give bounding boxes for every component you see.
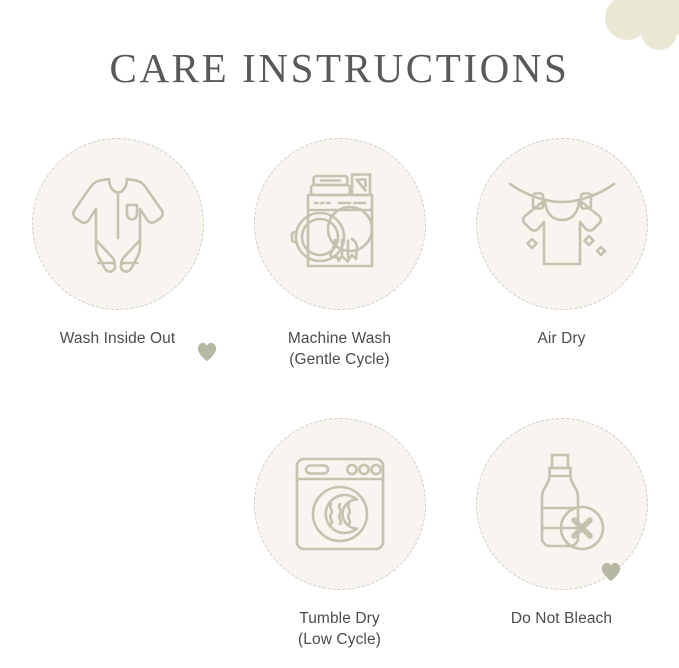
instruction-item-air-dry[interactable]: Air Dry <box>451 138 673 370</box>
instruction-label: Wash Inside Out <box>60 328 176 349</box>
tumble-dryer-icon <box>278 442 402 566</box>
icon-disc <box>254 138 426 310</box>
no-bleach-bottle-icon <box>500 442 624 566</box>
instruction-label: Tumble Dry (Low Cycle) <box>298 608 381 650</box>
instruction-item-tumble-dry[interactable]: Tumble Dry (Low Cycle) <box>229 418 451 650</box>
icon-disc <box>254 418 426 590</box>
instruction-item-machine-wash[interactable]: Machine Wash (Gentle Cycle) <box>229 138 451 370</box>
instruction-item-wash-inside-out[interactable]: Wash Inside Out <box>7 138 229 370</box>
care-instructions-card: CARE INSTRUCTIONS <box>0 0 679 668</box>
instruction-row-top: Wash Inside Out <box>0 138 679 370</box>
instruction-row-bottom: Tumble Dry (Low Cycle) <box>0 418 679 650</box>
instruction-label: Machine Wash (Gentle Cycle) <box>288 328 391 370</box>
instruction-label: Do Not Bleach <box>511 608 612 629</box>
washing-machine-icon <box>278 162 402 286</box>
icon-disc <box>476 138 648 310</box>
page-title: CARE INSTRUCTIONS <box>0 44 679 92</box>
clothesline-tshirt-icon <box>500 162 624 286</box>
icon-disc <box>476 418 648 590</box>
instruction-item-do-not-bleach[interactable]: Do Not Bleach <box>451 418 673 650</box>
icon-disc <box>32 138 204 310</box>
instruction-label: Air Dry <box>537 328 585 349</box>
baby-onesie-icon <box>56 162 180 286</box>
